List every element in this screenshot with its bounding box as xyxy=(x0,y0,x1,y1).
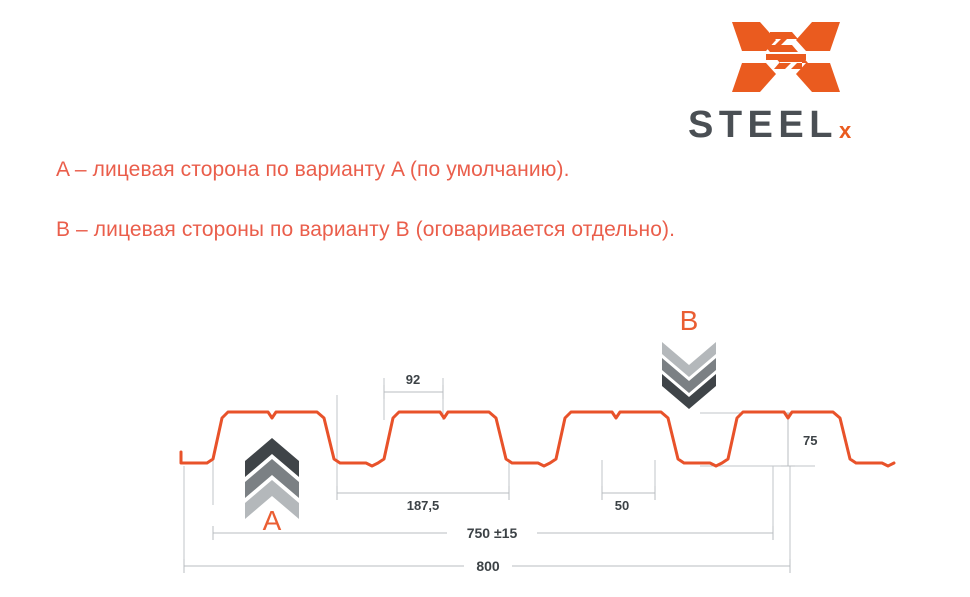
dimension-800-label: 800 xyxy=(476,558,500,574)
dimension-50: 50 xyxy=(602,486,655,513)
dimension-75-label: 75 xyxy=(803,433,817,448)
dimension-75: 75 xyxy=(781,413,817,466)
dimension-92-label: 92 xyxy=(406,372,420,387)
marker-a-label: A xyxy=(240,505,304,537)
dimension-187-5-label: 187,5 xyxy=(407,498,440,513)
dimension-800: 800 xyxy=(184,556,790,575)
dimension-187-5: 187,5 xyxy=(337,486,509,513)
marker-b-label: B xyxy=(657,305,721,337)
dimension-50-label: 50 xyxy=(615,498,629,513)
profile-technical-drawing: 92 187,5 50 75 750 ±15 800 xyxy=(0,0,970,597)
dimension-92: 92 xyxy=(384,371,443,399)
marker-b xyxy=(657,340,721,412)
chevron-down-group-b xyxy=(662,342,716,409)
dimension-750-label: 750 ±15 xyxy=(467,525,518,541)
